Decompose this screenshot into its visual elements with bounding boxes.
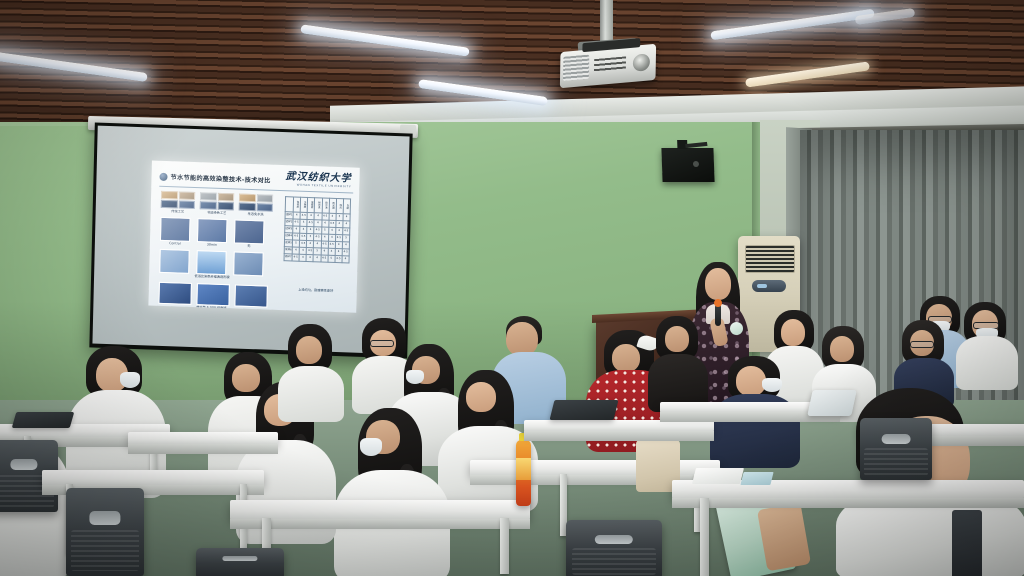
projector-vent [563, 55, 589, 81]
slide-bullet-icon [159, 173, 167, 181]
table-cell: 4 [342, 256, 349, 263]
lanyard [952, 510, 982, 576]
slide-data-table: 色牢度干摩擦湿摩擦耐皂洗耐汗渍耐光照强力白度 试样144-5444-5454试样… [284, 196, 352, 263]
table-row-label: 试样2 [285, 219, 293, 226]
papers[interactable] [740, 472, 773, 485]
projector-mount-pole [600, 0, 613, 44]
attendee-foreground-center [338, 408, 448, 576]
table-row-label: 试样6 [284, 247, 292, 254]
sample-pair [161, 191, 195, 209]
table-col-header: 白度 [343, 199, 350, 214]
chair[interactable] [196, 548, 284, 576]
attendee-back-right-2 [960, 302, 1016, 388]
table-row: 试样74-54444-554-54 [284, 254, 349, 263]
table-row-label: 试样5 [284, 240, 292, 247]
desk-small-left [128, 432, 278, 445]
desk-leg [500, 518, 509, 574]
university-logo: 武汉纺织大学 WUHAN TEXTILE UNIVERSITY [285, 172, 351, 188]
wall-speaker [661, 148, 714, 182]
sample-row-2: Control 30min 无 [160, 217, 279, 250]
presentation-slide: 节水节能的高效染整技术-技术对比 武汉纺织大学 WUHAN TEXTILE UN… [148, 160, 359, 312]
table-row-label: 试样7 [284, 254, 292, 261]
desk-front-left [230, 500, 530, 520]
presenter-head [705, 268, 731, 300]
desk-center [470, 460, 720, 476]
ac-grille-icon [745, 245, 795, 273]
speaker-arm [685, 142, 707, 148]
chair[interactable] [66, 488, 144, 576]
slide-sample-grid: 传统工艺 节能染色工艺 生态免水洗 Control 30min 无 [158, 191, 279, 313]
attendee-dark-right [652, 316, 706, 412]
chair[interactable] [860, 418, 932, 480]
sample-pair [200, 192, 234, 210]
laptop-device[interactable] [550, 400, 619, 420]
table-caption: 上染均匀，耐摩擦性能好 [283, 286, 349, 293]
attendee-left-4 [282, 324, 340, 420]
sample-row-4 [158, 282, 276, 308]
desk-leg [700, 498, 709, 576]
chair[interactable] [566, 520, 662, 576]
table-cell: 4-5 [342, 249, 349, 256]
sample-row-3 [159, 249, 278, 277]
table-row-label: 试样1 [285, 212, 293, 219]
microphone-tip-icon [714, 299, 722, 307]
slide-title: 节水节能的高效染整技术-技术对比 [170, 172, 270, 184]
presenter-badge [730, 322, 743, 335]
classroom-scene: 节水节能的高效染整技术-技术对比 武汉纺织大学 WUHAN TEXTILE UN… [0, 0, 1024, 576]
table-row-label: 试样3 [285, 226, 293, 233]
laptop-device[interactable] [12, 412, 75, 428]
ac-control-panel[interactable] [752, 280, 786, 292]
papers[interactable] [692, 468, 744, 484]
projector-lens-icon [633, 53, 650, 72]
drink-bottle[interactable] [516, 440, 531, 506]
microphone[interactable] [715, 304, 721, 326]
table-row-label: 试样4 [285, 233, 293, 240]
table-cell: 4-5 [343, 228, 350, 235]
projector-badge [594, 56, 626, 72]
sample-pair [239, 194, 273, 212]
tablet-device[interactable] [807, 390, 857, 416]
desk-mid-left [42, 470, 264, 486]
bottle-label [516, 458, 531, 480]
speaker-cone-icon [693, 161, 699, 167]
